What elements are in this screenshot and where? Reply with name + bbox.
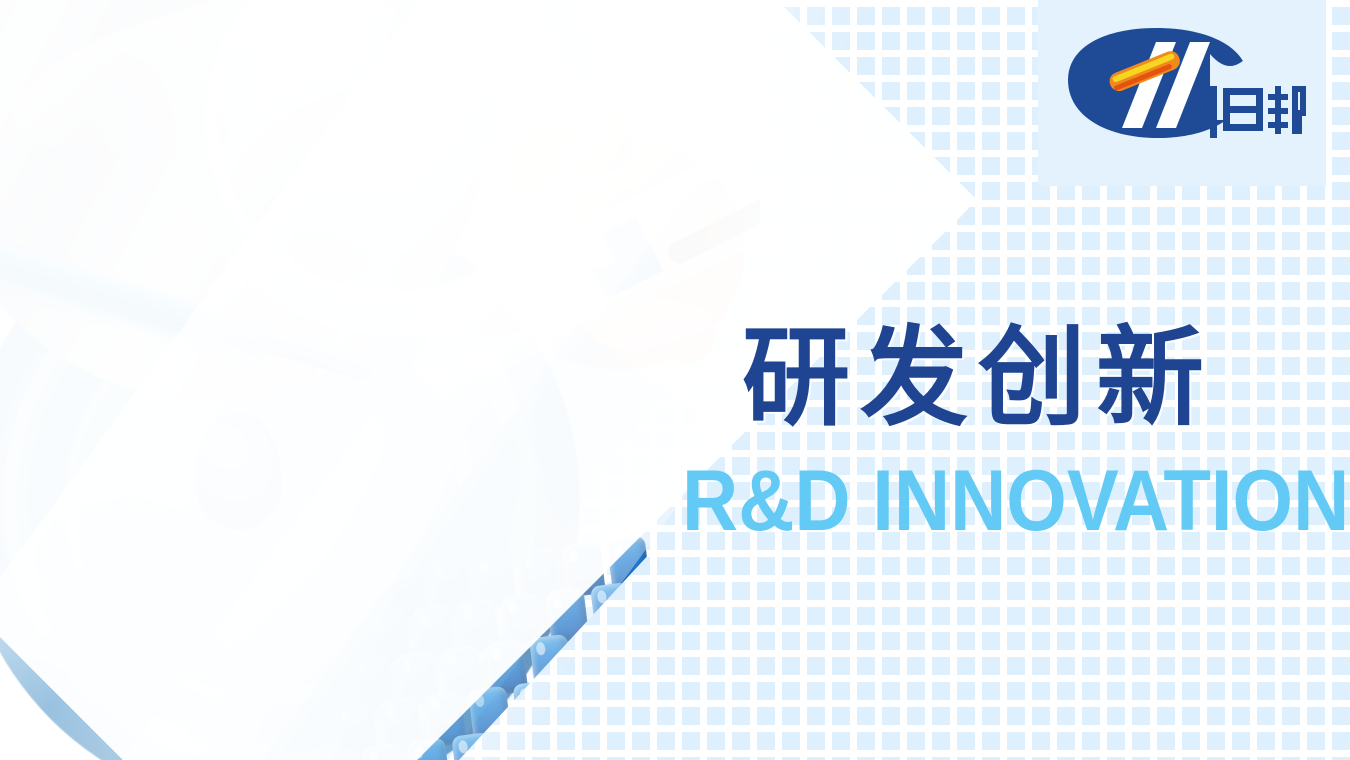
capsule	[407, 738, 451, 760]
hand-holding-test-tube-photo	[455, 95, 755, 385]
hengrui-logo[interactable]	[1060, 24, 1308, 152]
brand-logo-panel[interactable]	[1038, 0, 1326, 186]
page-title: 研发创新	[742, 322, 1342, 436]
test-tube-blue-label	[581, 217, 663, 299]
page-subtitle: R&D INNOVATION	[682, 458, 1288, 544]
rd-innovation-banner: 研发创新 R&D INNOVATION	[0, 0, 1350, 760]
test-tube-contents	[665, 179, 760, 267]
